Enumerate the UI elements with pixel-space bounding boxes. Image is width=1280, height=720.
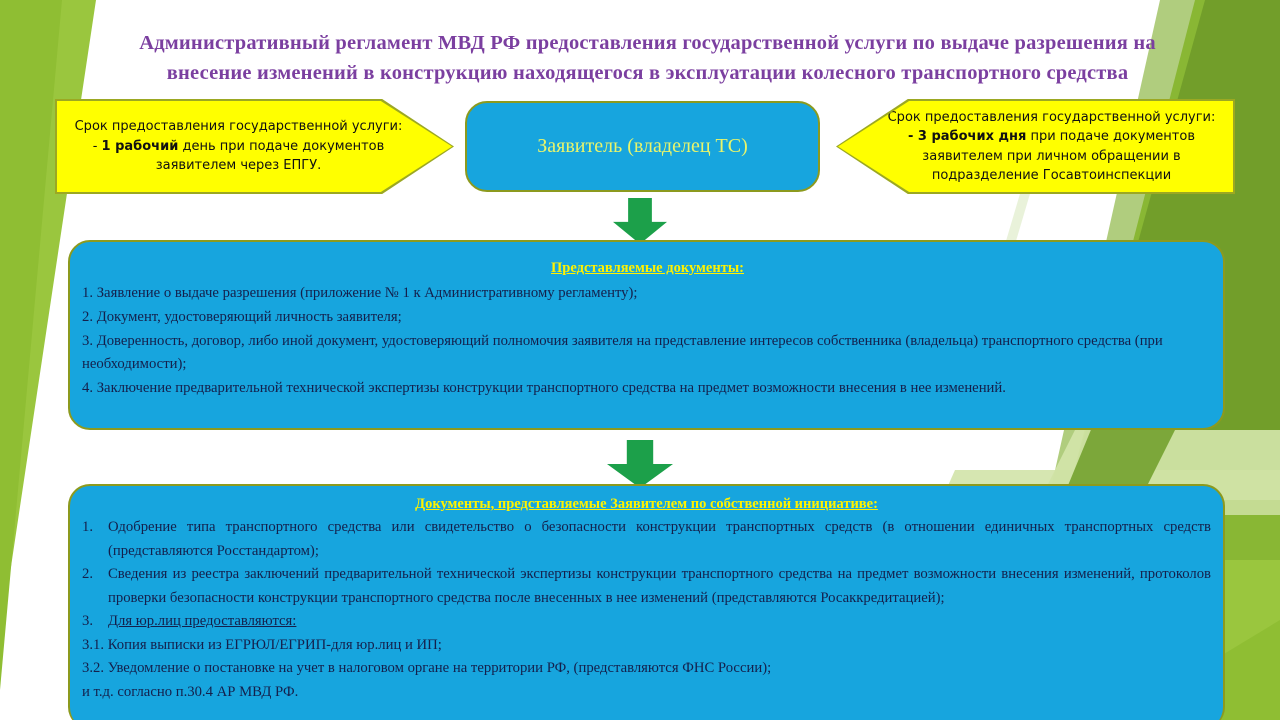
initiative-item-number: 3. [82,610,108,634]
right-term-line2-suffix: при подаче документов [1026,129,1195,144]
right-term-arrow-box: Срок предоставления государственной услу… [838,101,1233,192]
slide-canvas: Административный регламент МВД РФ предос… [0,0,1280,720]
documents-item: 3. Доверенность, договор, либо иной доку… [82,330,1213,378]
initiative-footer-note: и т.д. согласно п.30.4 АР МВД РФ. [82,681,1211,705]
left-term-line2-prefix: - [93,139,102,154]
left-term-line2: - 1 рабочий день при подаче документов [75,137,403,157]
right-term-line3: заявителем при личном обращении в [888,147,1216,167]
left-term-line2-bold: 1 рабочий [102,139,179,154]
initiative-list-item: 1. Одобрение типа транспортного средства… [82,516,1211,563]
initiative-item-number: 2. [82,563,108,610]
slide-title: Административный регламент МВД РФ предос… [50,28,1245,88]
initiative-item-3-1: 3.1. Копия выписки из ЕГРЮЛ/ЕГРИП-для юр… [82,634,1211,658]
documents-item: 4. Заключение предварительной техническо… [82,377,1213,401]
initiative-list-item-3: 3. Для юр.лиц предоставляются: [82,610,1211,634]
right-term-line4: подразделение Госавтоинспекции [888,166,1216,186]
right-term-line2-bold: - 3 рабочих дня [908,129,1026,144]
left-term-line3: заявителем через ЕПГУ. [75,156,403,176]
initiative-item-3-2: 3.2. Уведомление о постановке на учет в … [82,657,1211,681]
initiative-block-heading: Документы, представляемые Заявителем по … [82,494,1211,514]
slide-title-line1: Административный регламент МВД РФ предос… [139,32,1156,54]
documents-item: 1. Заявление о выдаче разрешения (прилож… [82,282,1213,306]
initiative-item-text: Одобрение типа транспортного средства ил… [108,516,1211,563]
initiative-block: Документы, представляемые Заявителем по … [68,484,1225,720]
left-term-arrow-box: Срок предоставления государственной услу… [57,101,452,192]
documents-block: Представляемые документы: 1. Заявление о… [68,240,1225,430]
slide-title-line2: внесение изменений в конструкцию находящ… [50,58,1245,88]
documents-item: 2. Документ, удостоверяющий личность зая… [82,306,1213,330]
left-term-line1: Срок предоставления государственной услу… [75,117,403,137]
documents-block-heading: Представляемые документы: [82,258,1213,278]
documents-block-list: 1. Заявление о выдаче разрешения (прилож… [82,282,1213,401]
initiative-list-item: 2. Сведения из реестра заключений предва… [82,563,1211,610]
applicant-box: Заявитель (владелец ТС) [465,101,820,192]
left-term-line2-suffix: день при подаче документов [178,139,384,154]
right-term-line1: Срок предоставления государственной услу… [888,108,1216,128]
applicant-label: Заявитель (владелец ТС) [537,135,748,158]
initiative-item-text: Сведения из реестра заключений предварит… [108,563,1211,610]
initiative-numbered-list: 1. Одобрение типа транспортного средства… [82,516,1211,634]
right-term-line2: - 3 рабочих дня при подаче документов [888,127,1216,147]
initiative-item-number: 1. [82,516,108,563]
initiative-item-text-underlined: Для юр.лиц предоставляются: [108,610,1211,634]
